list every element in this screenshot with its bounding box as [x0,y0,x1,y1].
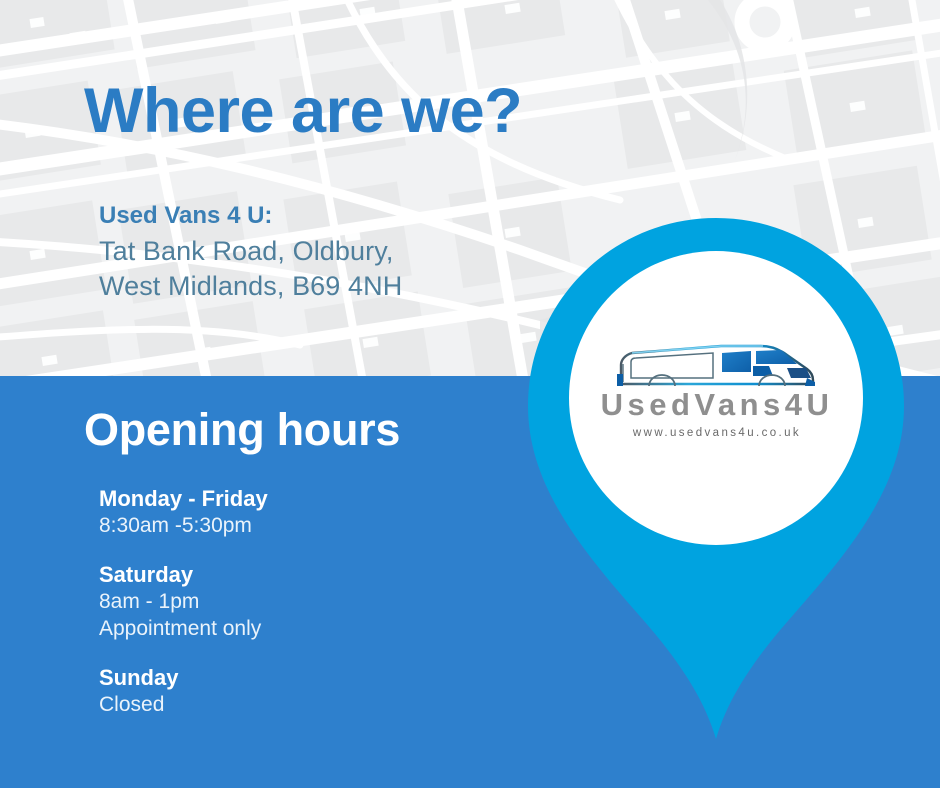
address-line-1: Tat Bank Road, Oldbury, [99,234,402,269]
hours-group-sunday: Sunday Closed [99,664,479,718]
hours-detail: 8am - 1pm [99,589,479,616]
business-name: Used Vans 4 U: [99,200,402,231]
usedvans4u-logo: UsedVans4U www.usedvans4u.co.uk [583,338,851,453]
address-line-2: West Midlands, B69 4NH [99,269,402,304]
hours-group-saturday: Saturday 8am - 1pm Appointment only [99,561,479,642]
address-block: Used Vans 4 U: Tat Bank Road, Oldbury, W… [99,200,402,304]
hours-detail: 8:30am -5:30pm [99,513,479,540]
logo-website-url: www.usedvans4u.co.uk [583,427,851,439]
page-title: Where are we? [84,78,522,144]
map-pin-marker [528,218,904,748]
logo-wordmark: UsedVans4U [583,389,851,420]
opening-hours-list: Monday - Friday 8:30am -5:30pm Saturday … [99,485,479,719]
hours-day-label: Monday - Friday [99,485,479,513]
hours-detail: Closed [99,692,479,719]
hours-day-label: Saturday [99,561,479,589]
where-are-we-poster: Where are we? Used Vans 4 U: Tat Bank Ro… [0,0,940,788]
hours-group-weekday: Monday - Friday 8:30am -5:30pm [99,485,479,539]
hours-day-label: Sunday [99,664,479,692]
hours-detail-note: Appointment only [99,616,479,643]
opening-hours-title: Opening hours [84,404,400,456]
